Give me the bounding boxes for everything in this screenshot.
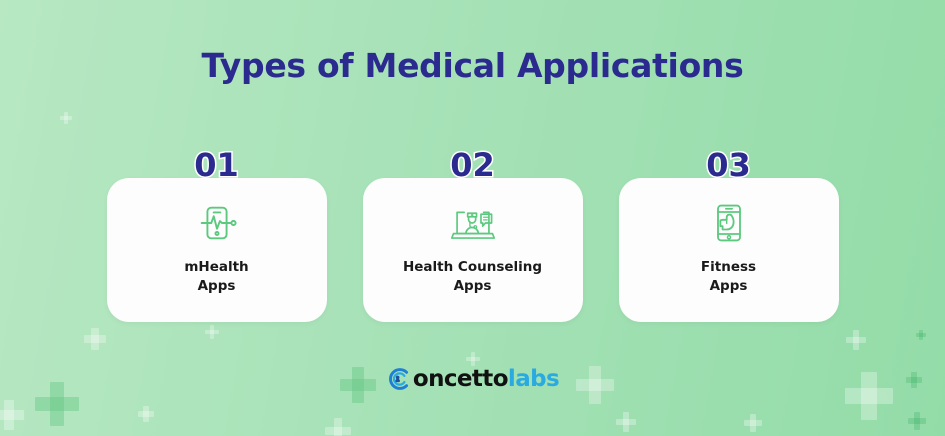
decorative-cross-icon [908, 412, 926, 430]
infographic-canvas: Types of Medical Applications 01 mHealth [0, 0, 945, 436]
brand-name-secondary: labs [508, 366, 559, 392]
card-label-line-1: Fitness [701, 258, 756, 277]
page-title: Types of Medical Applications [0, 46, 945, 85]
card-label: mHealth Apps [176, 258, 256, 296]
decorative-cross-icon [466, 352, 480, 366]
card-number-badge: 03 [619, 146, 839, 184]
card-number-badge: 01 [107, 146, 327, 184]
brand-logo[interactable]: oncettolabs [0, 366, 945, 391]
concetto-c-logo-icon [386, 367, 410, 391]
card-health-counseling-apps[interactable]: 02 [363, 146, 583, 322]
brand-logo-text: oncettolabs [413, 367, 559, 391]
phone-bicep-icon [706, 200, 752, 246]
decorative-cross-icon [138, 406, 154, 422]
card-label-line-2: Apps [701, 277, 756, 296]
decorative-cross-icon [325, 418, 351, 436]
card-label-line-2: Apps [403, 277, 542, 296]
card-body[interactable]: Fitness Apps [619, 178, 839, 322]
phone-heartbeat-icon [194, 200, 240, 246]
card-label-line-1: Health Counseling [403, 258, 542, 277]
card-number-badge: 02 [363, 146, 583, 184]
card-label-line-2: Apps [184, 277, 248, 296]
card-mhealth-apps[interactable]: 01 mHealth Apps [107, 146, 327, 322]
card-fitness-apps[interactable]: 03 Fitness Apps [619, 146, 839, 322]
card-label: Fitness Apps [693, 258, 764, 296]
cards-row: 01 mHealth Apps 02 [0, 146, 945, 336]
decorative-cross-icon [0, 400, 24, 430]
decorative-cross-icon [616, 412, 636, 432]
brand-name-primary: oncetto [413, 366, 508, 392]
decorative-cross-icon [60, 112, 72, 124]
card-label: Health Counseling Apps [395, 258, 550, 296]
decorative-cross-icon [744, 414, 762, 432]
card-label-line-1: mHealth [184, 258, 248, 277]
card-body[interactable]: Health Counseling Apps [363, 178, 583, 322]
laptop-doctor-chat-icon [450, 200, 496, 246]
card-body[interactable]: mHealth Apps [107, 178, 327, 322]
